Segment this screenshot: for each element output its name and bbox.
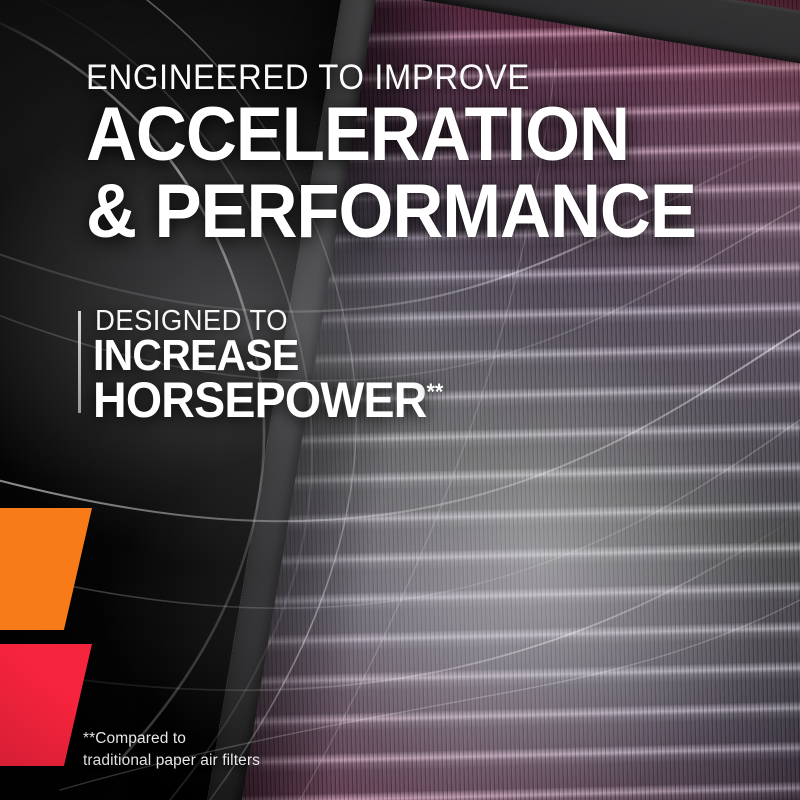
footnote-line-1: **Compared to xyxy=(83,728,260,750)
footnote-line-2: traditional paper air filters xyxy=(83,750,260,772)
promo-canvas: ENGINEERED TO IMPROVE ACCELERATION & PER… xyxy=(0,0,800,800)
subhead-line-1: INCREASE xyxy=(93,336,299,376)
subhead-line-2-text: HORSEPOWER xyxy=(93,372,427,428)
footnote: **Compared to traditional paper air filt… xyxy=(83,728,260,772)
headline-line-2: & PERFORMANCE xyxy=(86,178,696,246)
headline-line-1: ACCELERATION xyxy=(86,101,629,169)
subhead-accent-bar xyxy=(78,311,81,413)
copy-block: ENGINEERED TO IMPROVE ACCELERATION & PER… xyxy=(0,0,800,800)
subhead-line-2: HORSEPOWER** xyxy=(93,378,443,423)
subhead-superscript: ** xyxy=(427,378,444,404)
